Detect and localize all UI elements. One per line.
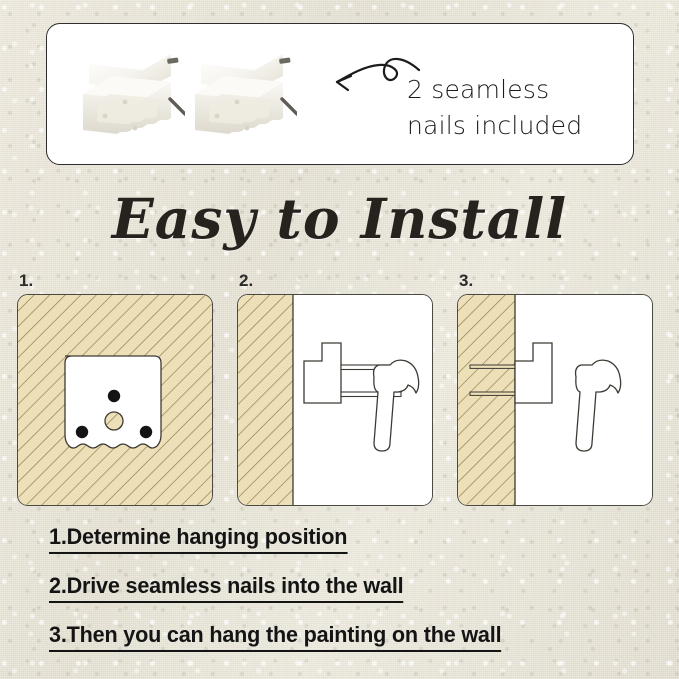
- mark-dot-top: [108, 390, 120, 402]
- step-panel-3: 3.: [457, 272, 653, 506]
- instruction-2: 2.Drive seamless nails into the wall: [49, 573, 403, 603]
- nail-hook-icon: [75, 42, 185, 157]
- step-panel-2: 2.: [237, 272, 433, 506]
- step-2-illustration: [237, 294, 433, 506]
- instruction-3: 3.Then you can hang the painting on the …: [49, 622, 501, 652]
- nail-hook-icon: [187, 42, 297, 157]
- mark-dot-left: [76, 426, 88, 438]
- driven-nail-bottom: [470, 392, 515, 395]
- step-number-2: 2.: [239, 272, 433, 289]
- hanging-hole: [105, 412, 123, 430]
- card-headline-line-2: nails included: [407, 108, 622, 144]
- card-headline: 2 seamless nails included: [407, 72, 622, 143]
- step-1-illustration: [17, 294, 213, 506]
- step-number-3: 3.: [459, 272, 653, 289]
- instruction-1: 1.Determine hanging position: [49, 524, 347, 554]
- page-title: Easy to Install: [0, 186, 679, 251]
- step-3-illustration: [457, 294, 653, 506]
- instruction-row-2: 2.Drive seamless nails into the wall: [49, 573, 649, 622]
- instruction-row-3: 3.Then you can hang the painting on the …: [49, 622, 649, 671]
- mark-dot-right: [140, 426, 152, 438]
- card-headline-line-1: 2 seamless: [407, 72, 622, 108]
- step-number-1: 1.: [19, 272, 213, 289]
- instruction-list: 1.Determine hanging position 2.Drive sea…: [49, 524, 649, 671]
- seamless-nails-card: 2 seamless nails included: [46, 23, 634, 165]
- infographic-page: 2 seamless nails included Easy to Instal…: [0, 0, 679, 679]
- step-panel-1: 1.: [17, 272, 213, 506]
- driven-nail-top: [470, 365, 515, 368]
- instruction-row-1: 1.Determine hanging position: [49, 524, 649, 573]
